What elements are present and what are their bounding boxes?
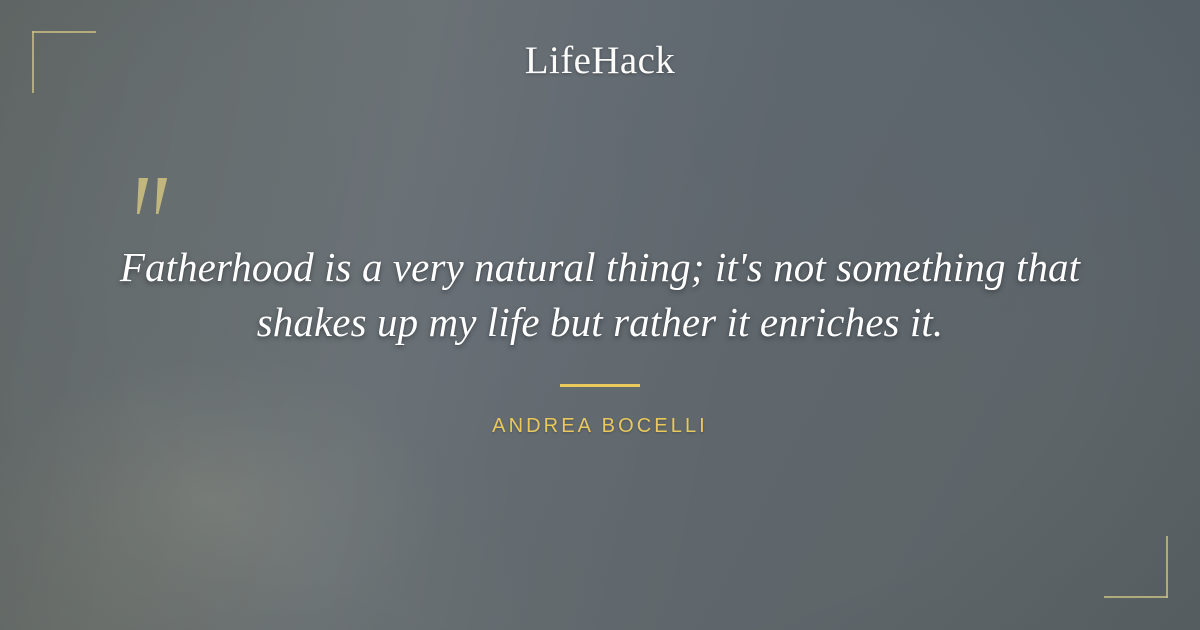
quotation-mark-stroke-left: [133, 178, 148, 214]
divider-rule: [560, 384, 640, 387]
corner-bracket-bottom-right-icon: [1104, 536, 1168, 598]
corner-bracket-bottom-right-horizontal: [1104, 596, 1168, 598]
quote-line-2: shakes up my life but rather it enriches…: [100, 295, 1100, 350]
corner-bracket-top-left-horizontal: [32, 31, 96, 33]
quote-card: LifeHack Fatherhood is a very natural th…: [0, 0, 1200, 630]
quotation-mark-icon: [131, 168, 179, 220]
quote-line-1: Fatherhood is a very natural thing; it's…: [100, 240, 1100, 295]
quote-attribution: ANDREA BOCELLI: [0, 413, 1200, 439]
corner-bracket-bottom-right-vertical: [1166, 536, 1168, 598]
quotation-mark-stroke-right: [152, 178, 167, 214]
brand-logo-lifehack: LifeHack: [0, 38, 1200, 84]
quote-text: Fatherhood is a very natural thing; it's…: [100, 240, 1100, 350]
